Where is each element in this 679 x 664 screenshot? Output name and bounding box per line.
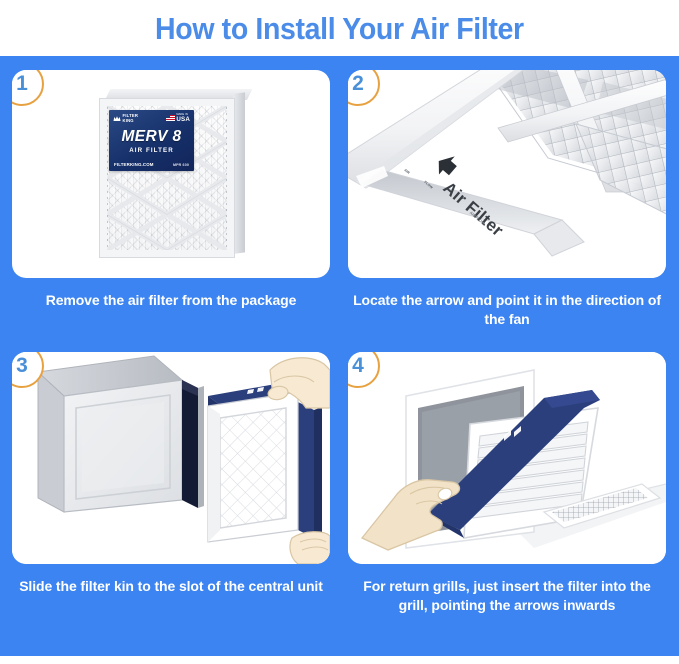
step-1-caption: Remove the air filter from the package — [12, 291, 330, 310]
hand-bottom — [290, 532, 330, 564]
step-1-image: FILTER KING — [12, 70, 330, 278]
usa-text: MADE IN USA — [176, 114, 190, 123]
step-3-number: 3 — [16, 355, 28, 378]
brand-url-text: FILTERKING.COM — [114, 162, 154, 167]
step-2-image: Air Filter AIRFLOW AIR FLOW — [348, 70, 666, 278]
step-4-number: 4 — [352, 355, 364, 378]
air-filter-product: FILTER KING — [99, 89, 247, 261]
step-3-caption: Slide the filter kin to the slot of the … — [12, 577, 330, 596]
label-bottom-row: FILTERKING.COM MPR 600 — [114, 162, 189, 167]
step-3-image — [12, 352, 330, 564]
step-2: Air Filter AIRFLOW AIR FLOW 2 Locate the… — [348, 70, 666, 360]
filter-product-label: FILTER KING — [109, 110, 194, 171]
return-grill-illustration — [348, 352, 666, 564]
step-4-caption: For return grills, just insert the filte… — [348, 577, 666, 615]
crown-icon — [113, 115, 121, 123]
central-unit — [38, 356, 204, 512]
slide-filter-illustration — [12, 352, 330, 564]
step-4-image — [348, 352, 666, 564]
page-title: How to Install Your Air Filter — [155, 13, 524, 44]
brand-text: FILTER KING — [123, 114, 139, 123]
step-1-card: FILTER KING — [12, 70, 330, 278]
steps-grid: FILTER KING — [0, 56, 679, 656]
step-3: 3 Slide the filter kin to the slot of th… — [12, 352, 330, 652]
mpr-rating-text: MPR 600 — [173, 163, 189, 167]
step-2-number: 2 — [352, 73, 364, 96]
label-top-row: FILTER KING — [113, 113, 190, 124]
filter-front-face: FILTER KING — [99, 98, 235, 258]
header: How to Install Your Air Filter — [0, 0, 679, 56]
step-4: 4 For return grills, just insert the fil… — [348, 352, 666, 664]
air-filter-subtitle: AIR FILTER — [109, 147, 194, 154]
step-4-card: 4 — [348, 352, 666, 564]
usa-flag-icon — [166, 115, 175, 121]
infographic-page: How to Install Your Air Filter — [0, 0, 679, 656]
country-text: USA — [176, 117, 190, 123]
filter-corner-illustration — [348, 70, 666, 278]
label-merv-block: MERV 8 AIR FILTER — [109, 129, 194, 154]
merv-rating-text: MERV 8 — [109, 129, 194, 145]
step-2-card: Air Filter AIRFLOW AIR FLOW 2 — [348, 70, 666, 278]
filter-king-logo: FILTER KING — [113, 114, 138, 123]
step-1-number: 1 — [16, 73, 28, 96]
step-2-caption: Locate the arrow and point it in the dir… — [348, 291, 666, 329]
made-in-usa-badge: MADE IN USA — [166, 114, 190, 123]
step-3-card: 3 — [12, 352, 330, 564]
step-1: FILTER KING — [12, 70, 330, 346]
